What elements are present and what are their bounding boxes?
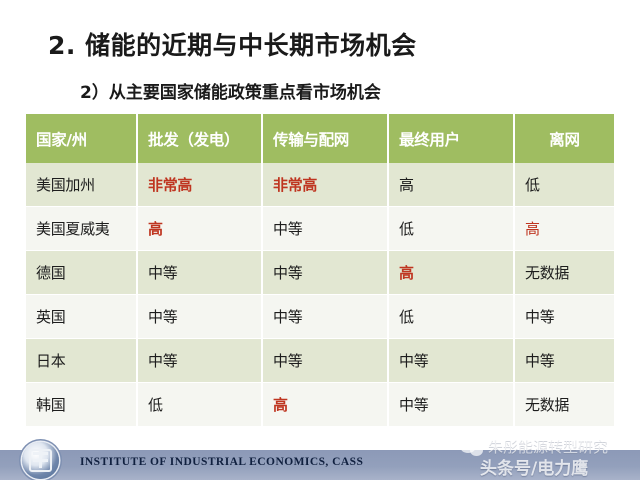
cell-wholesale: 非常高: [137, 163, 262, 207]
cell-value: 非常高: [148, 176, 192, 194]
cell-transmission: 高: [262, 383, 388, 427]
cell-value: 低: [399, 308, 414, 326]
cell-country: 韩国: [26, 383, 137, 427]
page-subtitle: 2）从主要国家储能政策重点看市场机会: [80, 78, 381, 103]
slide-canvas: 2. 储能的近期与中长期市场机会 2）从主要国家储能政策重点看市场机会 国家/州…: [0, 0, 640, 480]
cell-value: 中等: [148, 264, 177, 282]
cell-end-user: 低: [388, 207, 514, 251]
market-opportunity-table-wrapper: 国家/州 批发（发电） 传输与配网 最终用户 离网 美国加州 非常高 非常高 高…: [26, 114, 614, 427]
cell-end-user: 高: [388, 163, 514, 207]
cell-value: 低: [399, 220, 414, 238]
cell-off-grid: 中等: [514, 295, 614, 339]
cell-transmission: 中等: [262, 295, 388, 339]
cell-value: 高: [525, 220, 540, 238]
table-row: 美国加州 非常高 非常高 高 低: [26, 163, 614, 207]
cell-value: 中等: [273, 308, 302, 326]
cell-country: 美国加州: [26, 163, 137, 207]
table-body: 美国加州 非常高 非常高 高 低 美国夏威夷 高 中等 低 高 德国 中等 中等: [26, 163, 614, 427]
cell-value: 高: [273, 396, 288, 414]
cell-value: 中等: [399, 352, 428, 370]
table-row: 美国夏威夷 高 中等 低 高: [26, 207, 614, 251]
column-header-country: 国家/州: [26, 114, 137, 163]
cell-country: 英国: [26, 295, 137, 339]
page-title: 2. 储能的近期与中长期市场机会: [48, 26, 417, 62]
column-header-wholesale: 批发（发电）: [137, 114, 262, 163]
cell-value: 低: [525, 176, 540, 194]
cell-off-grid: 中等: [514, 339, 614, 383]
cell-country: 德国: [26, 251, 137, 295]
table-row: 韩国 低 高 中等 无数据: [26, 383, 614, 427]
cell-wholesale: 低: [137, 383, 262, 427]
cell-value: 高: [399, 264, 414, 282]
cell-end-user: 中等: [388, 383, 514, 427]
institute-seal-icon: [22, 442, 59, 479]
cell-country: 日本: [26, 339, 137, 383]
cell-end-user: 低: [388, 295, 514, 339]
cell-country: 美国夏威夷: [26, 207, 137, 251]
table-row: 日本 中等 中等 中等 中等: [26, 339, 614, 383]
cell-value: 中等: [525, 308, 554, 326]
cell-value: 非常高: [273, 176, 317, 194]
cell-value: 中等: [273, 220, 302, 238]
table-row: 德国 中等 中等 高 无数据: [26, 251, 614, 295]
cell-transmission: 中等: [262, 207, 388, 251]
market-opportunity-table: 国家/州 批发（发电） 传输与配网 最终用户 离网 美国加州 非常高 非常高 高…: [26, 114, 614, 427]
cell-wholesale: 高: [137, 207, 262, 251]
column-header-transmission-distribution: 传输与配网: [262, 114, 388, 163]
cell-off-grid: 低: [514, 163, 614, 207]
table-row: 英国 中等 中等 低 中等: [26, 295, 614, 339]
cell-end-user: 高: [388, 251, 514, 295]
cell-wholesale: 中等: [137, 295, 262, 339]
cell-value: 中等: [273, 352, 302, 370]
cell-transmission: 中等: [262, 339, 388, 383]
cell-wholesale: 中等: [137, 339, 262, 383]
cell-value: 低: [148, 396, 163, 414]
cell-value: 高: [399, 176, 414, 194]
cell-off-grid: 高: [514, 207, 614, 251]
cell-transmission: 非常高: [262, 163, 388, 207]
cell-value: 高: [148, 220, 163, 238]
cell-end-user: 中等: [388, 339, 514, 383]
table-header-row: 国家/州 批发（发电） 传输与配网 最终用户 离网: [26, 114, 614, 163]
cell-value: 中等: [273, 264, 302, 282]
column-header-off-grid: 离网: [514, 114, 614, 163]
cell-off-grid: 无数据: [514, 251, 614, 295]
cell-value: 中等: [399, 396, 428, 414]
cell-value: 无数据: [525, 396, 569, 414]
cell-value: 中等: [148, 308, 177, 326]
cell-off-grid: 无数据: [514, 383, 614, 427]
cell-wholesale: 中等: [137, 251, 262, 295]
column-header-end-user: 最终用户: [388, 114, 514, 163]
institute-name: INSTITUTE OF INDUSTRIAL ECONOMICS, CASS: [80, 456, 363, 468]
cell-value: 中等: [148, 352, 177, 370]
cell-transmission: 中等: [262, 251, 388, 295]
cell-value: 无数据: [525, 264, 569, 282]
cell-value: 中等: [525, 352, 554, 370]
